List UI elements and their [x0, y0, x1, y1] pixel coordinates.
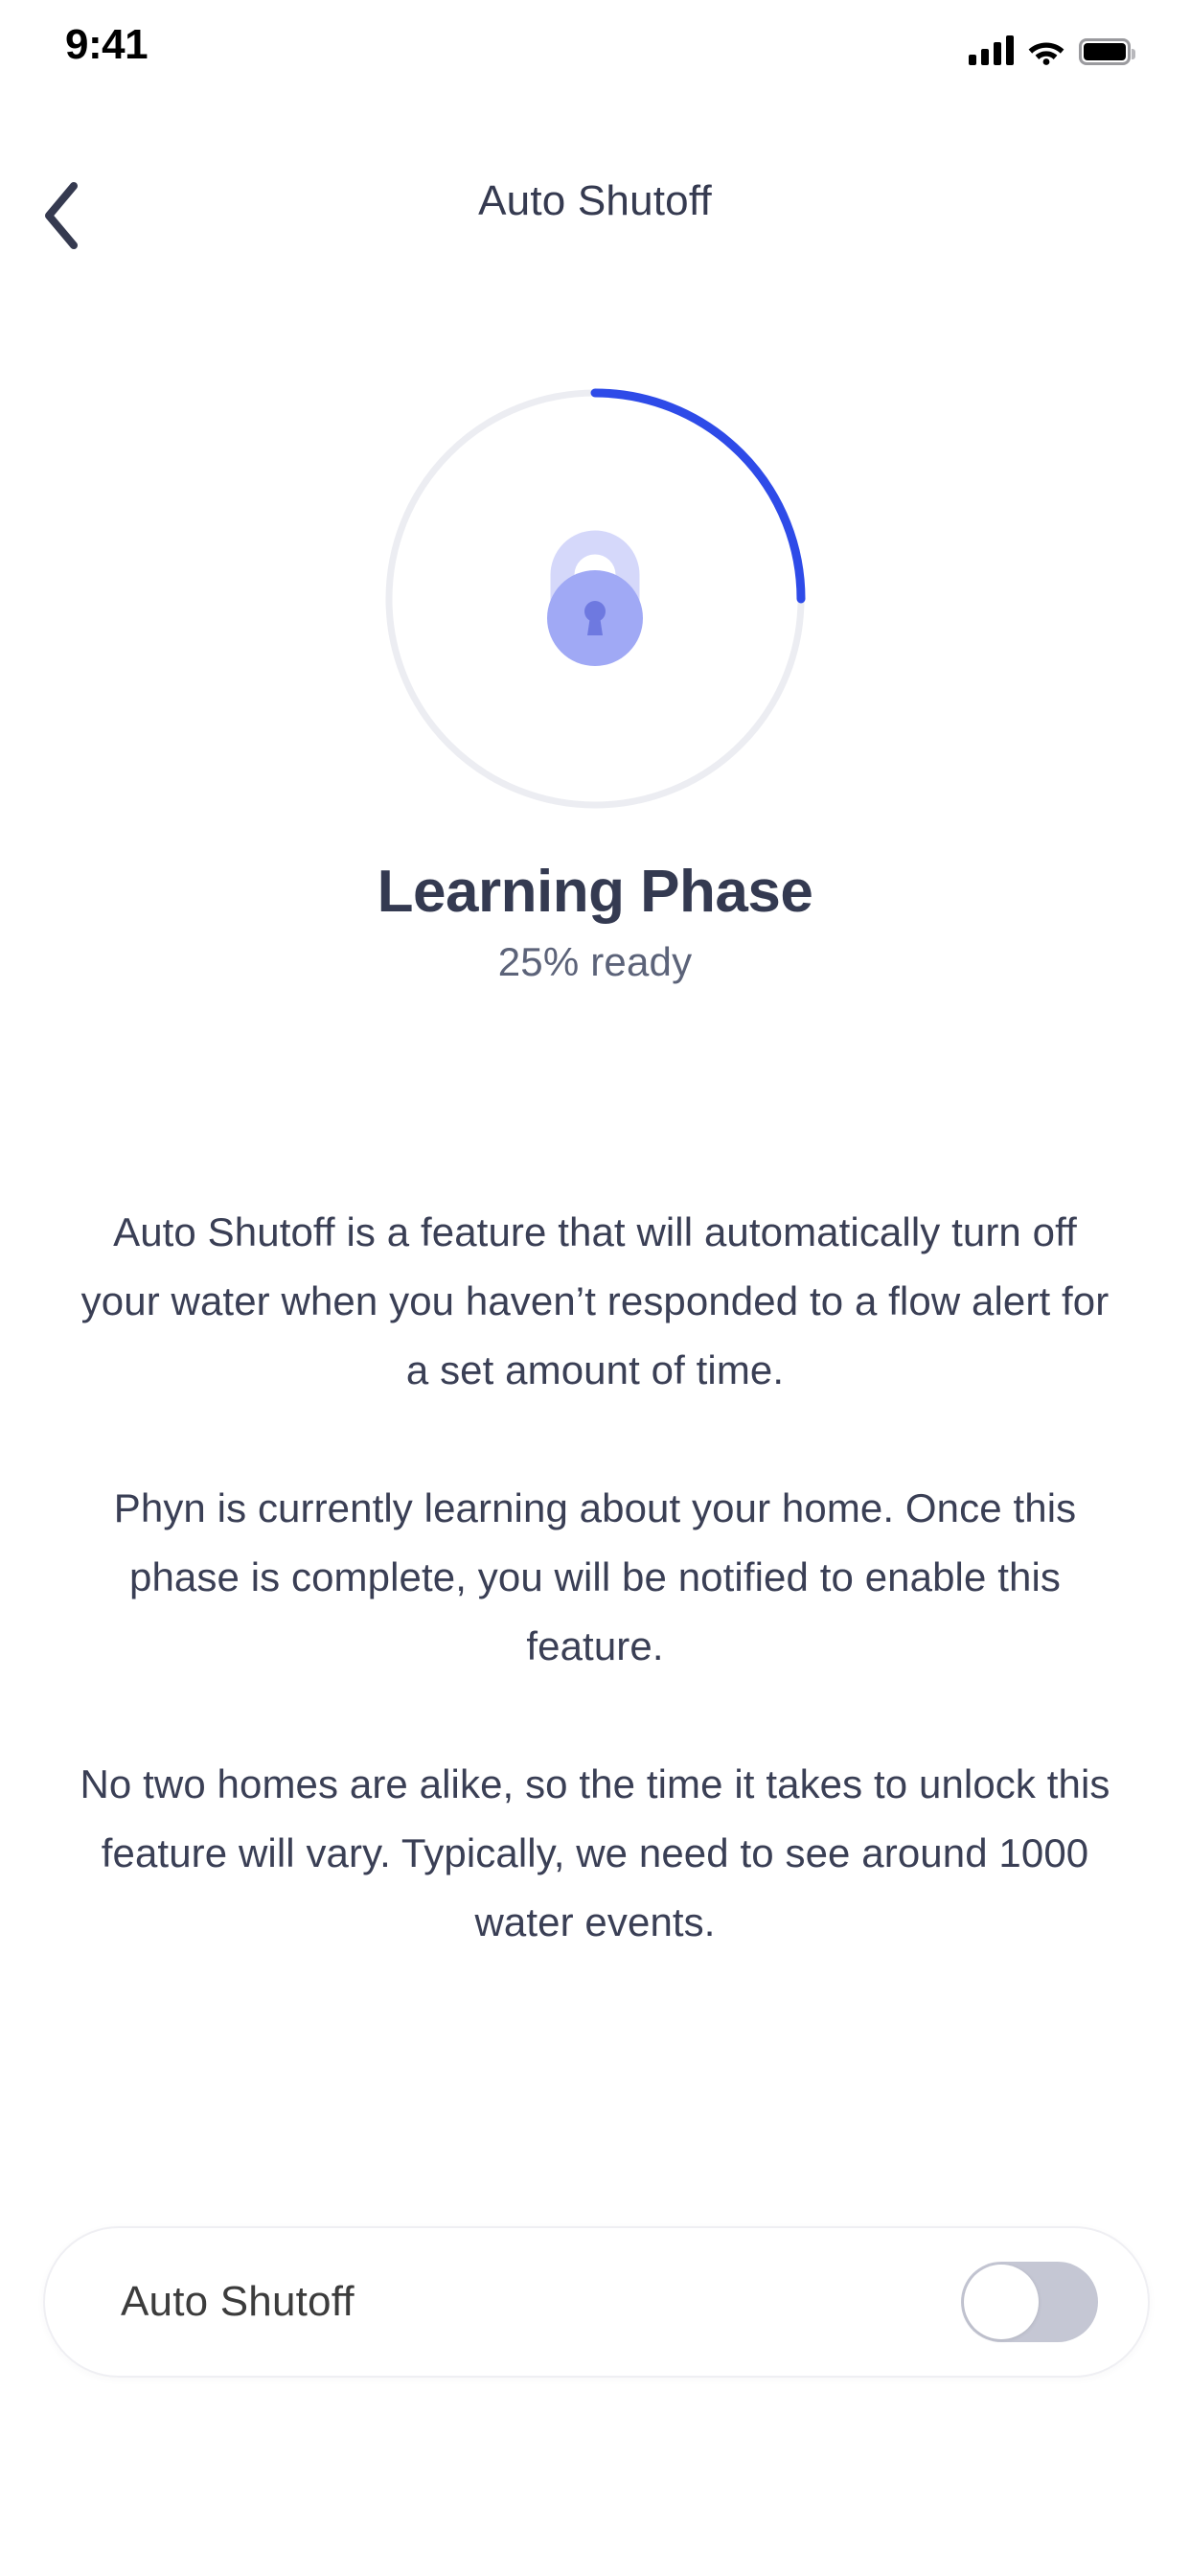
navigation-bar: Auto Shutoff	[0, 168, 1190, 273]
description-text: Auto Shutoff is a feature that will auto…	[77, 1198, 1113, 1957]
app-screen: 9:41 Auto Shutoff	[0, 0, 1190, 2576]
paragraph-2: Phyn is currently learning about your ho…	[77, 1474, 1113, 1681]
status-bar-time: 9:41	[65, 21, 148, 69]
auto-shutoff-toggle-row[interactable]: Auto Shutoff	[43, 2226, 1150, 2378]
page-title: Auto Shutoff	[0, 177, 1190, 225]
status-bar-icons	[969, 27, 1131, 65]
learning-progress-indicator	[375, 379, 815, 819]
phase-title: Learning Phase	[0, 858, 1190, 926]
progress-ring	[0, 379, 1190, 819]
cellular-signal-icon	[969, 35, 1014, 65]
auto-shutoff-switch[interactable]	[961, 2262, 1098, 2342]
auto-shutoff-label: Auto Shutoff	[121, 2278, 355, 2326]
phase-subtitle: 25% ready	[0, 939, 1190, 985]
status-bar: 9:41	[0, 0, 1190, 115]
wifi-icon	[1027, 36, 1065, 65]
lock-icon	[547, 542, 643, 666]
battery-icon	[1079, 38, 1131, 65]
switch-knob	[964, 2265, 1039, 2339]
paragraph-1: Auto Shutoff is a feature that will auto…	[77, 1198, 1113, 1405]
paragraph-3: No two homes are alike, so the time it t…	[77, 1750, 1113, 1957]
